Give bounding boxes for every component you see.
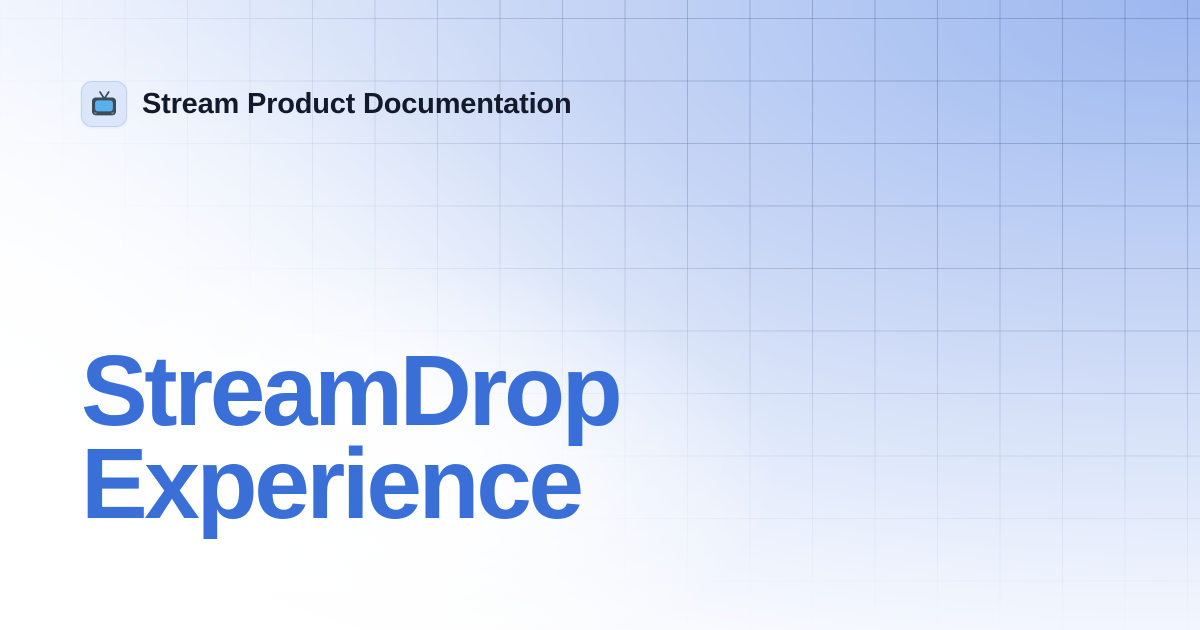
og-card: Stream Product Documentation StreamDrop … xyxy=(0,0,1200,630)
television-icon xyxy=(89,89,119,119)
brand-row: Stream Product Documentation xyxy=(81,81,571,127)
brand-title: Stream Product Documentation xyxy=(142,90,571,119)
brand-icon-badge xyxy=(81,81,127,127)
page-title: StreamDrop Experience xyxy=(81,345,841,531)
hero-section: StreamDrop Experience xyxy=(81,345,841,531)
